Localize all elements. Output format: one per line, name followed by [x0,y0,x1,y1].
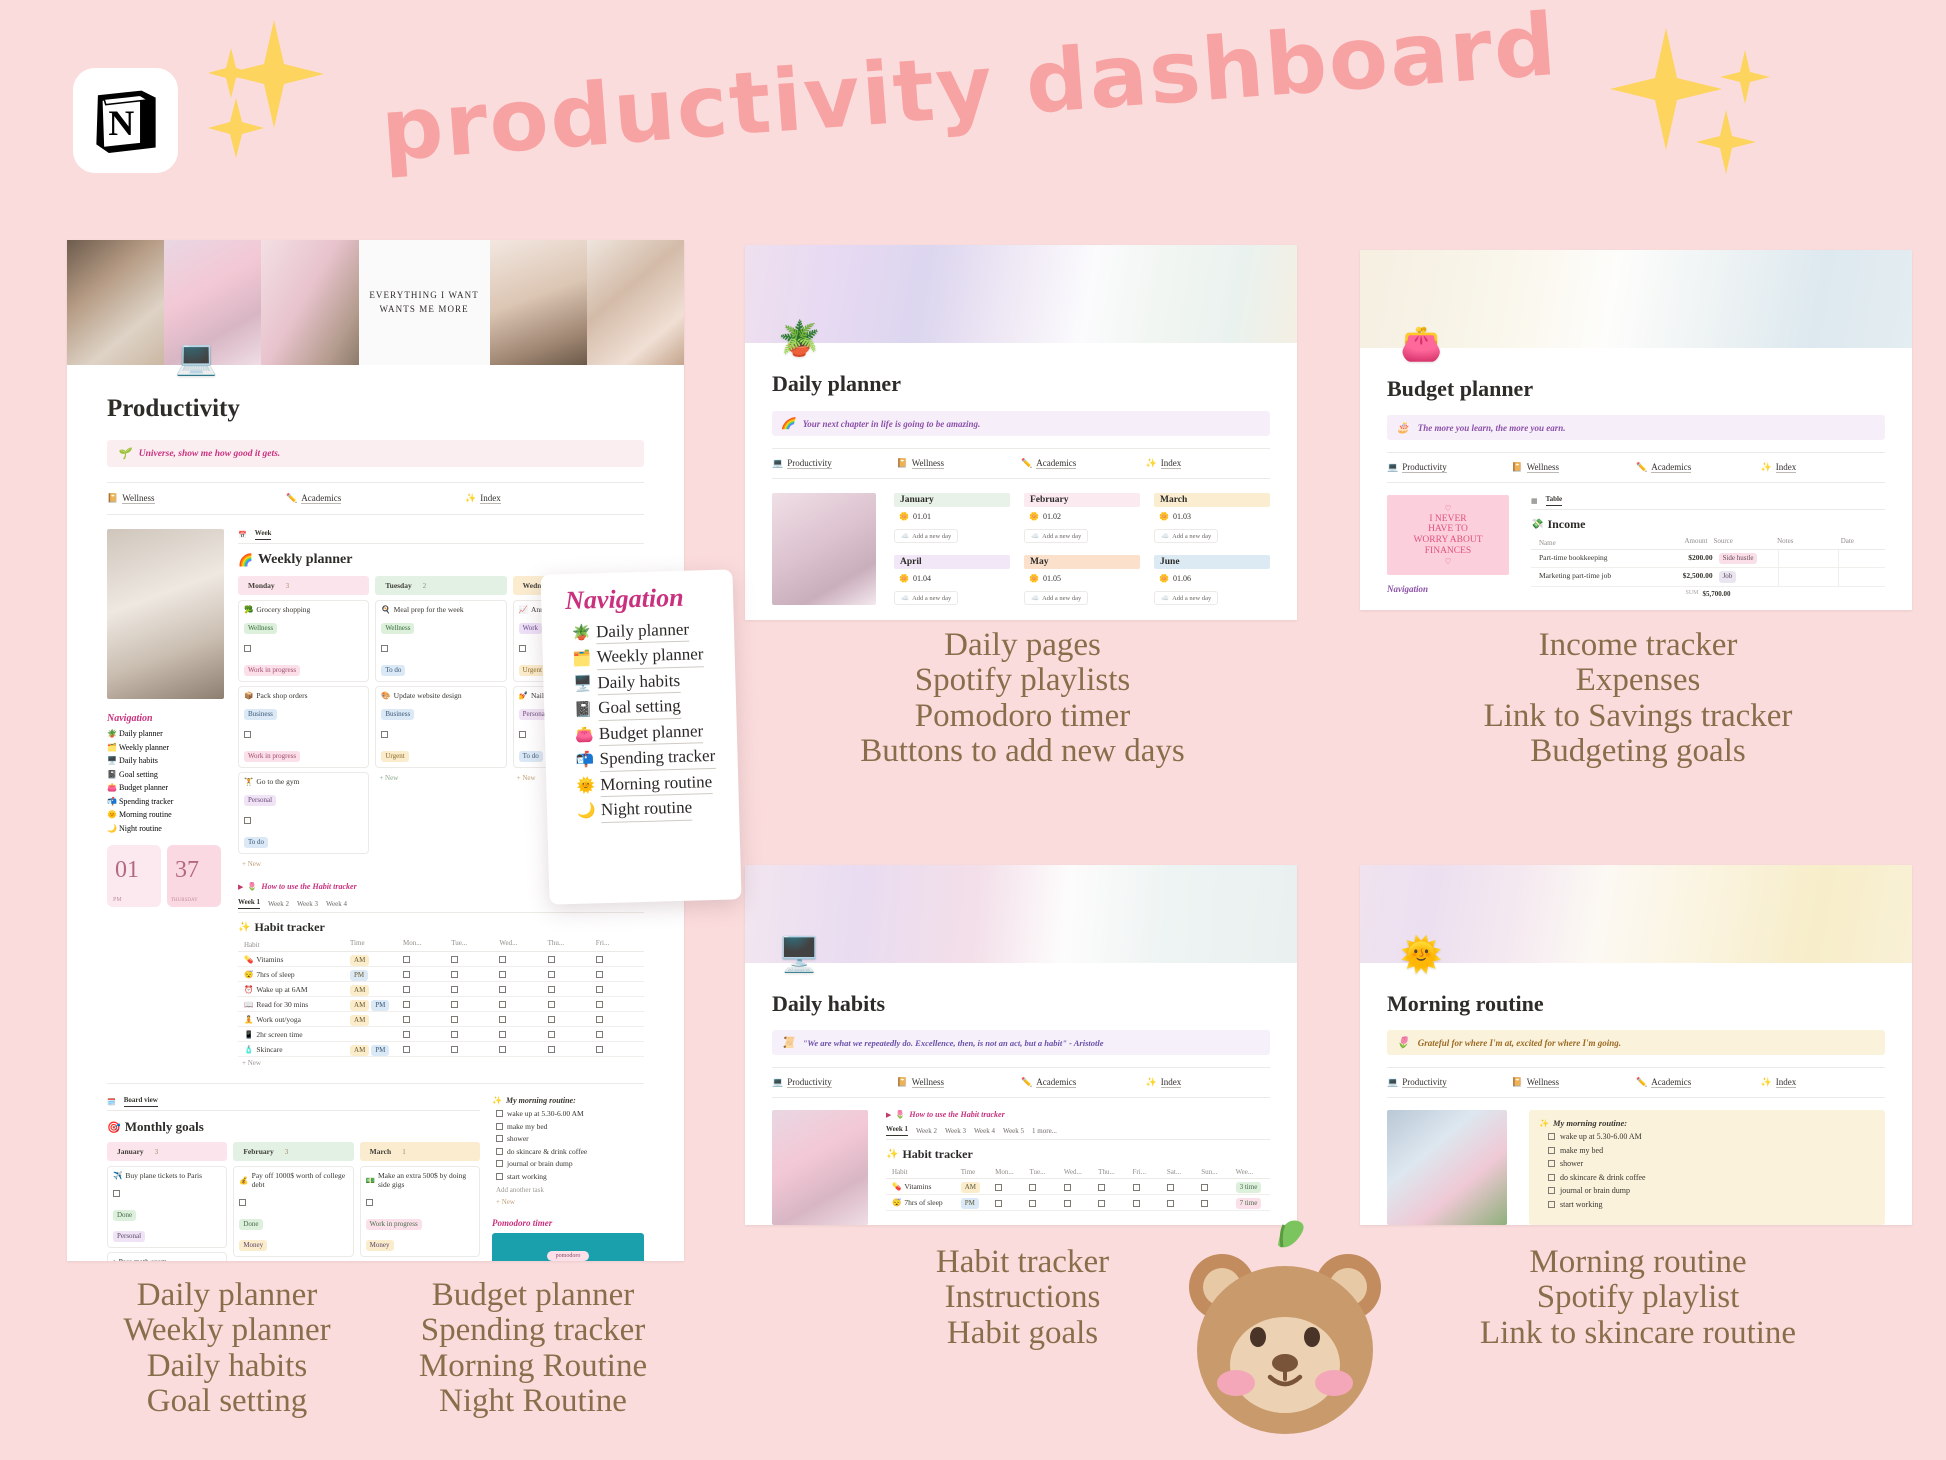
navigation-popup-item-label: Morning routine [600,771,713,798]
checkbox[interactable] [403,956,410,963]
checkbox[interactable] [995,1200,1002,1207]
table-title: Income [1547,517,1585,532]
nav-item-wellness[interactable]: 📔 Wellness [897,1077,1022,1088]
checkbox[interactable] [244,645,251,652]
cover-image [745,865,1297,963]
laptop-icon: 💻 [772,458,783,469]
checkbox[interactable] [403,971,410,978]
tulip-icon: 🌷 [1396,1036,1410,1049]
table-sum: SUM $5,700.00 [1531,590,1885,598]
tab-board-view[interactable]: Board view [124,1096,158,1107]
checklist-item[interactable]: start working [492,1172,644,1181]
checkbox[interactable] [499,1001,506,1008]
checkbox[interactable] [1064,1184,1071,1191]
add-new-day-button[interactable]: ☁️Add a new day [894,529,958,543]
sidebar-item-spending-tracker[interactable]: 📬 Spending tracker [107,797,224,806]
checklist-item[interactable]: start working [1539,1200,1875,1209]
sidebar-item-morning-routine[interactable]: 🌞 Morning routine [107,810,224,819]
tab-week1[interactable]: Week 1 [886,1125,908,1136]
add-new-day-button[interactable]: ☁️Add a new day [1154,591,1218,605]
habit-section-header: ✨ Habit tracker [886,1147,1270,1162]
cloud-icon: ☁️ [1161,594,1169,602]
checkbox[interactable] [381,645,388,652]
tulip-icon: 🌷 [895,1110,905,1119]
checkbox[interactable] [1133,1200,1140,1207]
habit-toggle-label[interactable]: How to use the Habit tracker [261,882,356,891]
checklist-label: start working [507,1172,547,1181]
checkbox[interactable] [496,1135,503,1142]
book-icon: 📔 [1512,1077,1523,1088]
day-label: 01.06 [1173,574,1191,583]
table-row[interactable]: 💊VitaminsAM [238,952,644,967]
notion-logo: N [73,68,178,173]
habit-time: PM [961,1195,995,1210]
cell-date [1838,550,1885,567]
cell-source: Job [1713,568,1778,585]
checklist-label: do skincare & drink coffee [1560,1173,1646,1182]
checkbox[interactable] [1548,1201,1555,1208]
callout-text: The more you learn, the more you earn. [1418,423,1566,433]
habit-name: 2hr screen time [256,1030,302,1039]
add-new-button[interactable]: + New [238,1057,644,1069]
checkbox[interactable] [499,1016,506,1023]
money-wings-icon: 💸 [1531,519,1543,530]
checkbox[interactable] [451,971,458,978]
board-card-title: Make an extra 500$ by doing side gigs [378,1171,474,1189]
checkbox[interactable] [1201,1200,1208,1207]
callout: 🌈 Your next chapter in life is going to … [772,411,1270,436]
add-new-day-button[interactable]: ☁️Add a new day [1024,529,1088,543]
table-row[interactable]: 📖Read for 30 minsAM PM [238,997,644,1012]
checklist-label: shower [507,1134,529,1143]
checkbox[interactable] [548,1031,555,1038]
sidebar-item-budget-planner[interactable]: 👛 Budget planner [107,783,224,792]
nav-item-academics[interactable]: ✏️ Academics [1636,462,1761,473]
checkbox[interactable] [519,731,526,738]
daily-habits-card[interactable]: 🖥️ Daily habits 📜 "We are what we repeat… [745,865,1297,1225]
notebook-icon: 📓 [107,770,117,779]
plant-icon: 🪴 [107,729,117,738]
habit-table[interactable]: Habit Time Mon... Tue... Wed... Thu... F… [238,939,644,1069]
tab-week5[interactable]: Week 5 [1003,1127,1024,1135]
weeks-more-label[interactable]: 1 more... [1032,1127,1057,1135]
pomodoro-button[interactable]: pomodoro [547,1251,590,1261]
table-row[interactable]: Marketing part-time job$2,500.00Job [1531,568,1885,586]
checkbox[interactable] [1548,1133,1555,1140]
morning-routine-title: My morning routine: [506,1096,576,1105]
board-column[interactable]: March1💵Make an extra 500$ by doing side … [360,1142,480,1261]
day-link[interactable]: 🌼01.02 [1029,512,1140,521]
checkbox[interactable] [1548,1147,1555,1154]
nav-item-index[interactable]: ✨ Index [465,493,644,504]
table-row[interactable]: Part-time bookkeeping$200.00Side hustle [1531,550,1885,568]
cell-source: Side hustle [1713,550,1778,567]
month-block[interactable]: April🌼01.04☁️Add a new day [894,555,1010,605]
nav-item-index[interactable]: ✨ Index [1761,462,1886,473]
budget-planner-card[interactable]: 👛 Budget planner 🎂 The more you learn, t… [1360,250,1912,610]
sparkle-icon-small2 [208,98,264,163]
nav-row[interactable]: 💻 Productivity 📔 Wellness ✏️ Academics ✨… [772,1067,1270,1098]
checkbox[interactable] [548,986,555,993]
checkbox[interactable] [451,1016,458,1023]
checkbox[interactable] [1029,1200,1036,1207]
board-card-tag: Business [244,709,277,720]
sidebar-nav-list[interactable]: 🪴 Daily planner 🗂️ Weekly planner 🖥️ Dai… [107,729,224,833]
day-link[interactable]: 🌼01.03 [1159,512,1270,521]
checkbox[interactable] [596,1031,603,1038]
callout: 🌱 Universe, show me how good it gets. [107,440,644,467]
routine-list[interactable]: wake up at 5.30-6.00 AMmake my bedshower… [1539,1132,1875,1209]
board-column-header: January3 [107,1142,227,1161]
book-icon: 📔 [1512,462,1523,473]
checkbox[interactable] [403,1016,410,1023]
content-photo [772,1110,868,1225]
sidebar-item-goal-setting[interactable]: 📓 Goal setting [107,770,224,779]
board-card-status: Done [113,1210,136,1221]
navigation-popup-item-budget-planner[interactable]: 👛Budget planner [575,719,726,748]
navigation-popup-item-daily-planner[interactable]: 🪴Daily planner [572,618,723,647]
tab-table[interactable]: Table [1546,495,1562,506]
board-card[interactable]: •Pass math examDoneAcademics [107,1252,227,1261]
board-column[interactable]: January3✈️Buy plane tickets to ParisDone… [107,1142,227,1261]
add-new-button[interactable]: + New [238,858,369,870]
checkbox[interactable] [499,956,506,963]
table-header: Name Amount Source Notes Date [1531,537,1885,550]
checklist-item[interactable]: do skincare & drink coffee [492,1147,644,1156]
nav-item-academics[interactable]: ✏️ Academics [286,493,465,504]
chevron-right-icon[interactable]: ▶ [886,1111,891,1119]
checkbox[interactable] [548,1001,555,1008]
book-icon: 📔 [107,493,118,504]
nav-item-productivity[interactable]: 💻 Productivity [1387,1077,1512,1088]
checkbox[interactable] [1098,1184,1105,1191]
month-block[interactable]: May🌼01.05☁️Add a new day [1024,555,1140,605]
poster-widget: ♡ I NEVERHAVE TOWORRY ABOUTFINANCES ♡ [1387,495,1509,575]
table-row[interactable]: 😴7hrs of sleepPM7 time [886,1195,1270,1211]
board-card[interactable]: 📦 Pack shop orders Business Work in prog… [238,686,369,768]
navigation-popup-item-night-routine[interactable]: 🌙Night routine [577,796,728,825]
board-card[interactable]: 🎨 Update website design Business Urgent [375,686,506,768]
view-tabbar[interactable]: 📅 Week [238,529,644,544]
habit-section-header: ✨ Habit tracker [238,920,644,935]
checklist-item[interactable]: do skincare & drink coffee [1539,1173,1875,1182]
nav-item-productivity[interactable]: 💻 Productivity [772,458,897,469]
checkbox[interactable] [548,956,555,963]
cover-image [1360,250,1912,348]
checkbox[interactable] [451,986,458,993]
checkbox[interactable] [403,986,410,993]
poster-line: HAVE TO [1413,524,1482,535]
checkbox[interactable] [1133,1184,1140,1191]
month-name: February [1024,493,1140,507]
table-row[interactable]: 😴7hrs of sleepPM [238,967,644,982]
nails-icon: 💅 [519,691,528,700]
checkbox[interactable] [995,1184,1002,1191]
tab-week2[interactable]: Week 2 [916,1127,937,1135]
checkbox[interactable] [451,1031,458,1038]
checkbox[interactable] [596,1046,603,1053]
flower-icon: 🌼 [899,574,909,583]
checkbox[interactable] [496,1123,503,1130]
income-table[interactable]: Name Amount Source Notes Date Part-time … [1531,537,1885,598]
navigation-popup-item-goal-setting[interactable]: 📓Goal setting [574,694,725,723]
tab-week3[interactable]: Week 3 [945,1127,966,1135]
book-icon: 📔 [897,458,908,469]
tab-week2[interactable]: Week 2 [268,900,289,908]
navigation-popup-item-spending-tracker[interactable]: 📬Spending tracker [575,745,726,774]
board-column[interactable]: Monday 3 🥦 Grocery shopping Wellness Wor… [238,576,369,870]
column-header: Fri... [1133,1166,1167,1178]
sparkles-icon: ✨ [1761,1077,1772,1088]
column-header: Mon... [995,1166,1029,1178]
checkbox[interactable] [548,1016,555,1023]
nav-item-wellness[interactable]: 📔 Wellness [1512,1077,1637,1088]
board-card-status: Work in progress [244,751,300,762]
nav-item-productivity[interactable]: 💻 Productivity [772,1077,897,1088]
nav-item-index[interactable]: ✨ Index [1146,1077,1271,1088]
add-label: Add a new day [1172,533,1211,540]
add-new-day-button[interactable]: ☁️Add a new day [894,591,958,605]
nav-item-academics[interactable]: ✏️ Academics [1021,458,1146,469]
checklist-item[interactable]: shower [1539,1159,1875,1168]
habit-toggle[interactable]: ▶ 🌷 How to use the Habit tracker [886,1110,1270,1119]
morning-routine-list[interactable]: wake up at 5.30-6.00 AMmake my bedshower… [492,1109,644,1181]
monthly-header: 🎯 Monthly goals [107,1119,480,1135]
habit-time: PM [350,967,403,981]
nav-item-academics[interactable]: ✏️ Academics [1636,1077,1761,1088]
navigation-popup-item-label: Night routine [601,797,693,823]
nav-item-wellness[interactable]: 📔 Wellness [107,493,286,504]
board-card[interactable]: 💵Make an extra 500$ by doing side gigsWo… [360,1166,480,1257]
sidebar-nav-title: Navigation [1387,584,1509,594]
checkbox[interactable] [1064,1200,1071,1207]
tab-week3[interactable]: Week 3 [297,900,318,908]
nav-row[interactable]: 💻 Productivity 📔 Wellness ✏️ Academics ✨… [1387,452,1885,483]
checkbox[interactable] [499,1031,506,1038]
sidebar-item-daily-habits[interactable]: 🖥️ Daily habits [107,756,224,765]
nav-row[interactable]: 💻 Productivity 📔 Wellness ✏️ Academics ✨… [772,448,1270,479]
pomodoro-title: Pomodoro timer [492,1218,644,1228]
sidebar-item-night-routine[interactable]: 🌙 Night routine [107,824,224,833]
cloud-icon: ☁️ [1161,532,1169,540]
checkbox[interactable] [496,1173,503,1180]
checkbox[interactable] [113,1190,120,1197]
habit-name: Skincare [256,1045,282,1054]
checkbox[interactable] [366,1199,373,1206]
checkbox[interactable] [403,1001,410,1008]
add-new-button[interactable]: + New [492,1196,644,1208]
checklist-item[interactable]: wake up at 5.30-6.00 AM [1539,1132,1875,1141]
day-link[interactable]: 🌼01.01 [899,512,1010,521]
add-label: Add a new day [912,533,951,540]
board-card[interactable]: 💰Pay off 1000$ worth of college debtDone… [233,1166,353,1257]
tab-week[interactable]: Week [255,529,272,540]
column-header: Time [961,1166,995,1178]
sidebar-nav-title: Navigation [107,713,224,724]
checkbox[interactable] [244,817,251,824]
board-column[interactable]: February3💰Pay off 1000$ worth of college… [233,1142,353,1261]
checkbox[interactable] [496,1110,503,1117]
package-icon: 📦 [244,691,253,700]
table-row[interactable]: 📱2hr screen time [238,1027,644,1042]
wallet-icon: 👛 [107,783,117,792]
month-name: January [894,493,1010,507]
board-card[interactable]: 🥦 Grocery shopping Wellness Work in prog… [238,600,369,682]
nav-item-academics[interactable]: ✏️ Academics [1021,1077,1146,1088]
checkbox[interactable] [1167,1184,1174,1191]
chart-icon: 📈 [519,605,528,614]
checkbox[interactable] [403,1031,410,1038]
habit-table[interactable]: HabitTimeMon...Tue...Wed...Thu...Fri...S… [886,1166,1270,1211]
checkbox[interactable] [548,1046,555,1053]
week-tabbar[interactable]: Week 1Week 2Week 3Week 4Week 51 more... [886,1125,1270,1140]
checkbox[interactable] [1548,1160,1555,1167]
board-card-status: To do [519,751,543,762]
board-card[interactable]: 🏋️ Go to the gym Personal To do [238,772,369,854]
board-card-status: Urgent [519,665,546,676]
nav-item-wellness[interactable]: 📔 Wellness [897,458,1022,469]
checklist-item[interactable]: journal or brain dump [1539,1186,1875,1195]
add-new-day-button[interactable]: ☁️Add a new day [1154,529,1218,543]
nav-item-index[interactable]: ✨ Index [1761,1077,1886,1088]
chevron-right-icon[interactable]: ▶ [238,883,243,891]
checkbox[interactable] [451,1001,458,1008]
table-row[interactable]: 💊VitaminsAM3 time [886,1179,1270,1195]
tab-week4[interactable]: Week 4 [326,900,347,908]
sidebar-item-daily-planner[interactable]: 🪴 Daily planner [107,729,224,738]
habit-time: AM [350,952,403,966]
checklist-item[interactable]: make my bed [1539,1146,1875,1155]
month-block[interactable]: June🌼01.06☁️Add a new day [1154,555,1270,605]
day-label: 01.02 [1043,512,1061,521]
checkbox[interactable] [596,971,603,978]
checkbox[interactable] [499,971,506,978]
tab-week1[interactable]: Week 1 [238,898,260,909]
board-column[interactable]: Tuesday 2 🍳 Meal prep for the week Welln… [375,576,506,870]
cake-icon: 🎂 [1396,421,1410,434]
checkbox[interactable] [239,1199,246,1206]
checkbox[interactable] [451,1046,458,1053]
day-label: 01.04 [913,574,931,583]
view-tabbar[interactable]: ▦ Table [1531,495,1885,510]
month-count: 3 [155,1148,159,1156]
nav-row[interactable]: 💻 Productivity 📔 Wellness ✏️ Academics ✨… [1387,1067,1885,1098]
tab-week4[interactable]: Week 4 [974,1127,995,1135]
nav-item-index[interactable]: ✨ Index [1146,458,1271,469]
checklist-item[interactable]: shower [492,1134,644,1143]
nav-row[interactable]: 📔 Wellness ✏️ Academics ✨ Index [107,482,644,515]
pomodoro-widget[interactable]: pomodoro [492,1233,644,1261]
sun-icon: 🌞 [576,776,594,795]
month-block[interactable]: March🌼01.03☁️Add a new day [1154,493,1270,543]
moon-icon: 🌙 [107,824,117,833]
navigation-popup-item-morning-routine[interactable]: 🌞Morning routine [576,770,727,799]
day-link[interactable]: 🌼01.04 [899,574,1010,583]
month-block[interactable]: January🌼01.01☁️Add a new day [894,493,1010,543]
nav-item-productivity[interactable]: 💻 Productivity [1387,462,1512,473]
habit-name: Vitamins [904,1182,931,1191]
checklist-item[interactable]: wake up at 5.30-6.00 AM [492,1109,644,1118]
sidebar-item-weekly-planner[interactable]: 🗂️ Weekly planner [107,743,224,752]
checkbox[interactable] [499,1046,506,1053]
navigation-popup[interactable]: Navigation 🪴Daily planner🗂️Weekly planne… [540,569,741,904]
pencil-icon: ✏️ [1021,458,1032,469]
table-row[interactable]: ⏰Wake up at 6AMAM [238,982,644,997]
checkbox[interactable] [548,971,555,978]
checkbox[interactable] [1167,1200,1174,1207]
add-task-button[interactable]: Add another task [492,1184,644,1196]
checkbox[interactable] [596,986,603,993]
checkbox[interactable] [403,1046,410,1053]
checklist-item[interactable]: journal or brain dump [492,1159,644,1168]
checklist-item[interactable]: make my bed [492,1122,644,1131]
checklist-label: do skincare & drink coffee [507,1147,587,1156]
table-row[interactable]: 🧘Work out/yogaAM [238,1012,644,1027]
checkbox[interactable] [1548,1187,1555,1194]
nav-item-wellness[interactable]: 📔 Wellness [1512,462,1637,473]
day-link[interactable]: 🌼01.06 [1159,574,1270,583]
monitor-icon: 🖥️ [573,674,591,693]
board-card[interactable]: ✈️Buy plane tickets to ParisDonePersonal [107,1166,227,1248]
checkbox[interactable] [596,1001,603,1008]
navigation-popup-item-weekly-planner[interactable]: 🗂️Weekly planner [572,643,723,672]
checkbox[interactable] [381,731,388,738]
checkbox[interactable] [496,1160,503,1167]
sun-icon: 🌞 [1400,939,1442,973]
checkbox[interactable] [1029,1184,1036,1191]
checkbox[interactable] [244,731,251,738]
daily-planner-card[interactable]: 🪴 Daily planner 🌈 Your next chapter in l… [745,245,1297,620]
habit-time: AM [350,982,403,996]
add-label: Add a new day [1042,595,1081,602]
checklist-label: make my bed [1560,1146,1603,1155]
morning-routine-card[interactable]: 🌞 Morning routine 🌷 Grateful for where I… [1360,865,1912,1225]
day-link[interactable]: 🌼01.05 [1029,574,1140,583]
checklist-label: start working [1560,1200,1602,1209]
month-block[interactable]: February🌼01.02☁️Add a new day [1024,493,1140,543]
rainbow-icon: 🌈 [781,417,795,430]
board-card[interactable]: 🍳 Meal prep for the week Wellness To do [375,600,506,682]
checkbox[interactable] [596,1016,603,1023]
checkbox[interactable] [1201,1184,1208,1191]
seedling-icon: 🌱 [117,447,131,460]
column-header: Tue... [1029,1166,1063,1178]
checkbox[interactable] [519,645,526,652]
laptop-icon: 💻 [772,1077,783,1088]
board-card-title: Grocery shopping [256,605,310,614]
checkbox[interactable] [1548,1174,1555,1181]
checkbox[interactable] [496,1148,503,1155]
cell-date [1838,568,1885,585]
add-label: Add a new day [912,595,951,602]
checkbox[interactable] [1098,1200,1105,1207]
laptop-icon: 💻 [175,342,217,376]
add-new-day-button[interactable]: ☁️Add a new day [1024,591,1088,605]
checkbox[interactable] [451,956,458,963]
habit-weekly-goal: 3 time [1236,1179,1270,1194]
checkbox[interactable] [596,956,603,963]
page-title: productivity dashboard [378,0,1561,181]
table-row[interactable]: 🧴SkincareAM PM [238,1042,644,1057]
boardview-tabbar[interactable]: 🗓️ Board view [107,1096,480,1111]
navigation-popup-item-daily-habits[interactable]: 🖥️Daily habits [573,669,724,698]
add-new-button[interactable]: + New [375,772,506,784]
caption-bottom-left-2: Budget planner Spending tracker Morning … [378,1278,688,1419]
nav-label: Academics [301,493,341,504]
monitor-icon: 🖥️ [107,756,117,765]
checkbox[interactable] [499,986,506,993]
habit-toggle-label[interactable]: How to use the Habit tracker [909,1110,1004,1119]
